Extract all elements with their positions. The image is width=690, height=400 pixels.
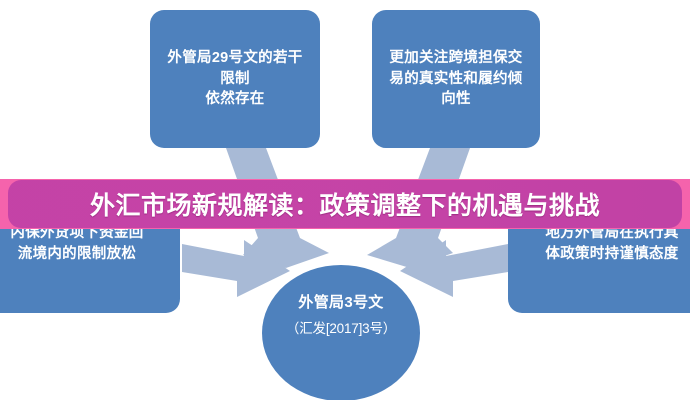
center-label-secondary: （汇发[2017]3号） xyxy=(286,317,396,337)
node-box-top-right[interactable]: 更加关注跨境担保交 易的真实性和履约倾 向性 xyxy=(372,10,540,148)
node-center-ellipse[interactable]: 外管局3号文 （汇发[2017]3号） xyxy=(262,265,420,400)
banner-title-text: 外汇市场新规解读：政策调整下的机遇与挑战 xyxy=(0,179,690,229)
node-label: 外管局29号文的若干 限制 依然存在 xyxy=(155,48,314,110)
diagram-canvas: 外管局29号文的若干 限制 依然存在 更加关注跨境担保交 易的真实性和履约倾 向… xyxy=(0,0,690,400)
node-box-top-left[interactable]: 外管局29号文的若干 限制 依然存在 xyxy=(150,10,320,148)
center-label-primary: 外管局3号文 xyxy=(298,291,383,312)
node-label: 更加关注跨境担保交 易的真实性和履约倾 向性 xyxy=(377,48,534,110)
